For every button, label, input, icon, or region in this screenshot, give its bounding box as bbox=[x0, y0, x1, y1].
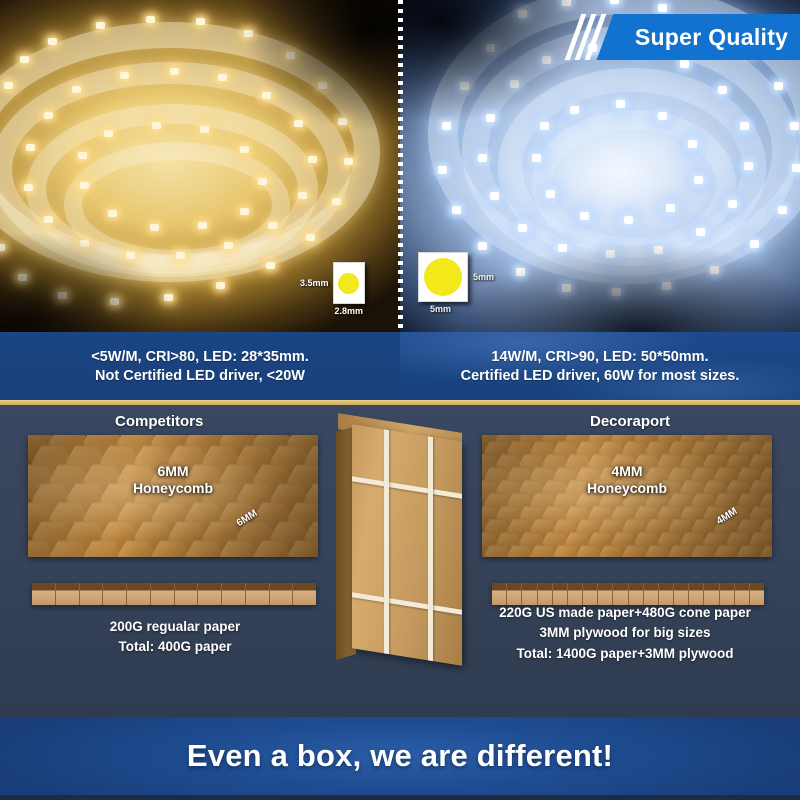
chip-height-label: 3.5mm bbox=[300, 278, 329, 288]
competitor-honeycomb: 6MM Honeycomb 6MM bbox=[28, 435, 318, 557]
super-quality-banner: Super Quality bbox=[573, 14, 800, 60]
decoraport-caption: 220G US made paper+480G cone paper 3MM p… bbox=[455, 603, 795, 664]
chip-width-label: 5mm bbox=[430, 304, 451, 314]
competitor-caption: 200G regualar paper Total: 400G paper bbox=[20, 617, 330, 658]
competitor-spec-bar: <5W/M, CRI>80, LED: 28*35mm. Not Certifi… bbox=[0, 332, 400, 400]
decoraport-chip-callout: 5mm 5mm bbox=[418, 252, 494, 302]
competitor-chip-callout: 3.5mm 2.8mm bbox=[300, 262, 365, 304]
honeycomb-size-label: 4MM Honeycomb bbox=[482, 463, 772, 496]
chip-emitter bbox=[424, 258, 462, 296]
carton-front-face bbox=[352, 424, 462, 665]
product-photo-section: 3.5mm 2.8mm bbox=[0, 0, 800, 332]
spec-line-1: 14W/M, CRI>90, LED: 50*50mm. bbox=[491, 349, 708, 365]
caption-line-1: 200G regualar paper bbox=[20, 617, 330, 637]
chip-height-label: 5mm bbox=[473, 272, 494, 282]
honeycomb-size-label: 6MM Honeycomb bbox=[28, 463, 318, 496]
decoraport-honeycomb: 4MM Honeycomb 4MM bbox=[482, 435, 772, 557]
shipping-carton-illustration bbox=[330, 415, 470, 667]
spec-line-1: <5W/M, CRI>80, LED: 28*35mm. bbox=[91, 349, 309, 365]
spec-line-2: Not Certified LED driver, <20W bbox=[95, 368, 305, 384]
chip-diagram bbox=[333, 262, 365, 304]
competitor-led-photo: 3.5mm 2.8mm bbox=[0, 0, 400, 332]
chip-diagram bbox=[418, 252, 468, 302]
chip-emitter bbox=[338, 273, 359, 294]
competitor-column-title: Competitors bbox=[115, 413, 203, 430]
decoraport-cross-section bbox=[492, 583, 764, 605]
caption-line-2: 3MM plywood for big sizes bbox=[455, 623, 795, 643]
caption-line-2: Total: 400G paper bbox=[20, 637, 330, 657]
caption-line-3: Total: 1400G paper+3MM plywood bbox=[455, 644, 795, 664]
banner-stripes-icon bbox=[573, 14, 598, 60]
infographic-page: 3.5mm 2.8mm bbox=[0, 0, 800, 800]
decoraport-spec-bar: 14W/M, CRI>90, LED: 50*50mm. Certified L… bbox=[400, 332, 800, 400]
panel-divider bbox=[398, 0, 403, 332]
headline-text: Even a box, we are different! bbox=[187, 738, 613, 774]
spec-bar-section: <5W/M, CRI>80, LED: 28*35mm. Not Certifi… bbox=[0, 332, 800, 400]
caption-line-1: 220G US made paper+480G cone paper bbox=[455, 603, 795, 623]
competitor-cross-section bbox=[32, 583, 316, 605]
packaging-comparison-section: Competitors Decoraport bbox=[0, 405, 800, 717]
decoraport-column-title: Decoraport bbox=[590, 413, 670, 430]
spec-line-2: Certified LED driver, 60W for most sizes… bbox=[461, 368, 740, 384]
chip-width-label: 2.8mm bbox=[335, 306, 364, 316]
banner-label: Super Quality bbox=[635, 24, 788, 51]
headline-banner: Even a box, we are different! bbox=[0, 717, 800, 795]
